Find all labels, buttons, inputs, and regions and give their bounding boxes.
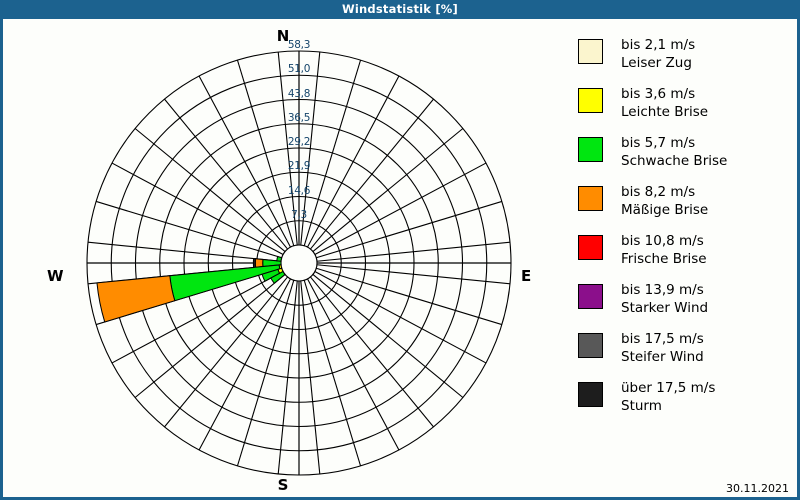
legend-speed-range: bis 8,2 m/s xyxy=(621,184,708,202)
legend-label: über 17,5 m/sSturm xyxy=(621,380,715,415)
radial-tick-label: 36,5 xyxy=(276,112,322,124)
legend-label: bis 17,5 m/sSteifer Wind xyxy=(621,331,704,366)
legend-label: bis 10,8 m/sFrische Brise xyxy=(621,233,707,268)
grid-spoke xyxy=(307,279,398,450)
compass-label-west: W xyxy=(47,267,64,285)
legend-color-swatch xyxy=(578,137,603,162)
legend-beaufort-name: Frische Brise xyxy=(621,251,707,269)
grid-spoke xyxy=(316,201,502,257)
grid-spoke xyxy=(313,129,463,252)
legend-label: bis 13,9 m/sStarker Wind xyxy=(621,282,708,317)
radial-tick-label: 43,8 xyxy=(276,88,322,100)
grid-spoke xyxy=(237,280,293,466)
legend-row: bis 17,5 m/sSteifer Wind xyxy=(578,331,793,374)
legend: bis 2,1 m/sLeiser Zugbis 3,6 m/sLeichte … xyxy=(578,37,793,429)
legend-speed-range: bis 5,7 m/s xyxy=(621,135,727,153)
date-stamp: 30.11.2021 xyxy=(726,482,789,495)
window-title: Windstatistik [%] xyxy=(342,2,458,16)
legend-label: bis 8,2 m/sMäßige Brise xyxy=(621,184,708,219)
legend-speed-range: bis 3,6 m/s xyxy=(621,86,708,104)
legend-beaufort-name: Leichte Brise xyxy=(621,104,708,122)
legend-color-swatch xyxy=(578,39,603,64)
legend-speed-range: bis 17,5 m/s xyxy=(621,331,704,349)
legend-color-swatch xyxy=(578,284,603,309)
grid-spoke xyxy=(315,163,486,254)
grid-spoke xyxy=(165,99,288,249)
legend-row: bis 3,6 m/sLeichte Brise xyxy=(578,86,793,129)
legend-beaufort-name: Steifer Wind xyxy=(621,349,704,367)
wind-petal-segment xyxy=(253,259,255,268)
grid-spoke xyxy=(135,129,285,252)
wind-petal-segment xyxy=(255,259,262,268)
radial-tick-label: 7,3 xyxy=(276,209,322,221)
legend-label: bis 3,6 m/sLeichte Brise xyxy=(621,86,708,121)
legend-beaufort-name: Starker Wind xyxy=(621,300,708,318)
wind-petal-segment xyxy=(97,276,175,322)
grid-spoke xyxy=(304,280,360,466)
legend-speed-range: bis 13,9 m/s xyxy=(621,282,708,300)
window-titlebar: Windstatistik [%] xyxy=(0,0,800,19)
grid-spoke xyxy=(112,163,283,254)
grid-spoke xyxy=(165,277,288,427)
radial-tick-label: 21,9 xyxy=(276,160,322,172)
legend-color-swatch xyxy=(578,186,603,211)
legend-row: bis 10,8 m/sFrische Brise xyxy=(578,233,793,276)
chart-canvas: N S W E 7,314,621,929,236,543,851,058,3 … xyxy=(3,19,797,497)
legend-row: bis 8,2 m/sMäßige Brise xyxy=(578,184,793,227)
grid-spoke xyxy=(310,277,433,427)
legend-speed-range: bis 2,1 m/s xyxy=(621,37,695,55)
legend-color-swatch xyxy=(578,333,603,358)
legend-color-swatch xyxy=(578,382,603,407)
wind-petal-segment xyxy=(170,265,280,301)
grid-spoke xyxy=(313,274,463,397)
grid-inner-circle-overlay xyxy=(281,245,317,281)
compass-label-south: S xyxy=(3,476,563,494)
windrose-window: Windstatistik [%] N S W E 7,314,621,929,… xyxy=(0,0,800,500)
legend-speed-range: bis 10,8 m/s xyxy=(621,233,707,251)
radial-tick-label: 14,6 xyxy=(276,185,322,197)
legend-row: bis 13,9 m/sStarker Wind xyxy=(578,282,793,325)
legend-beaufort-name: Leiser Zug xyxy=(621,55,695,73)
radial-tick-label: 51,0 xyxy=(276,63,322,75)
legend-row: über 17,5 m/sSturm xyxy=(578,380,793,423)
grid-spoke xyxy=(316,268,502,324)
grid-spoke xyxy=(199,279,290,450)
grid-spoke xyxy=(310,99,433,249)
legend-color-swatch xyxy=(578,235,603,260)
legend-row: bis 5,7 m/sSchwache Brise xyxy=(578,135,793,178)
legend-beaufort-name: Schwache Brise xyxy=(621,153,727,171)
legend-beaufort-name: Sturm xyxy=(621,398,715,416)
legend-color-swatch xyxy=(578,88,603,113)
legend-label: bis 2,1 m/sLeiser Zug xyxy=(621,37,695,72)
legend-speed-range: über 17,5 m/s xyxy=(621,380,715,398)
legend-label: bis 5,7 m/sSchwache Brise xyxy=(621,135,727,170)
grid-spoke xyxy=(315,271,486,362)
legend-row: bis 2,1 m/sLeiser Zug xyxy=(578,37,793,80)
compass-label-east: E xyxy=(521,267,531,285)
grid-spoke xyxy=(96,201,282,257)
radial-tick-label: 29,2 xyxy=(276,136,322,148)
legend-beaufort-name: Mäßige Brise xyxy=(621,202,708,220)
radial-tick-label: 58,3 xyxy=(276,39,322,51)
wind-rose-plot: N S W E 7,314,621,929,236,543,851,058,3 xyxy=(3,19,563,497)
